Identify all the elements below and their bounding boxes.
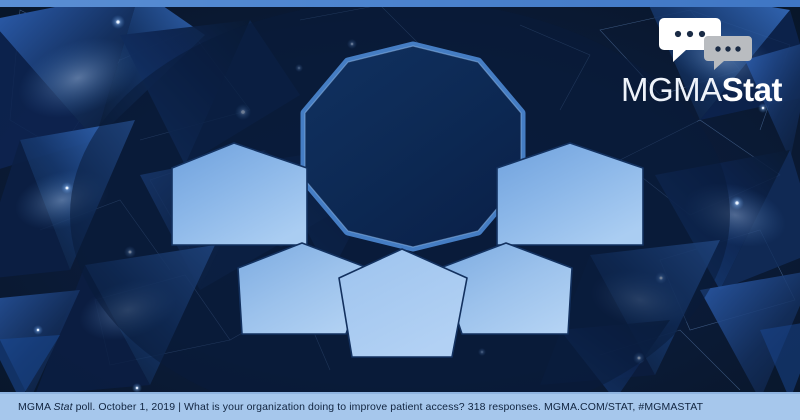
logo-mgma-text: MGMA [621, 71, 722, 108]
logo-wordmark: MGMAStat [621, 73, 782, 106]
speech-bubble-icon [656, 18, 752, 70]
footer-bar: MGMA Stat poll. October 1, 2019 | What i… [0, 392, 800, 420]
mgma-stat-logo: MGMAStat [606, 18, 786, 110]
center-polygon [305, 46, 521, 247]
footer-italic-stat: Stat [54, 401, 73, 413]
footer-rest: poll. October 1, 2019 | What is your org… [73, 401, 704, 413]
logo-stat-text: Stat [722, 71, 782, 108]
infographic-canvas: Healthcare leaders’ top five tactics to … [0, 0, 800, 420]
footer-caption: MGMA Stat poll. October 1, 2019 | What i… [0, 401, 703, 413]
footer-prefix: MGMA [18, 401, 54, 413]
pentagon-extending-hours [172, 143, 307, 245]
